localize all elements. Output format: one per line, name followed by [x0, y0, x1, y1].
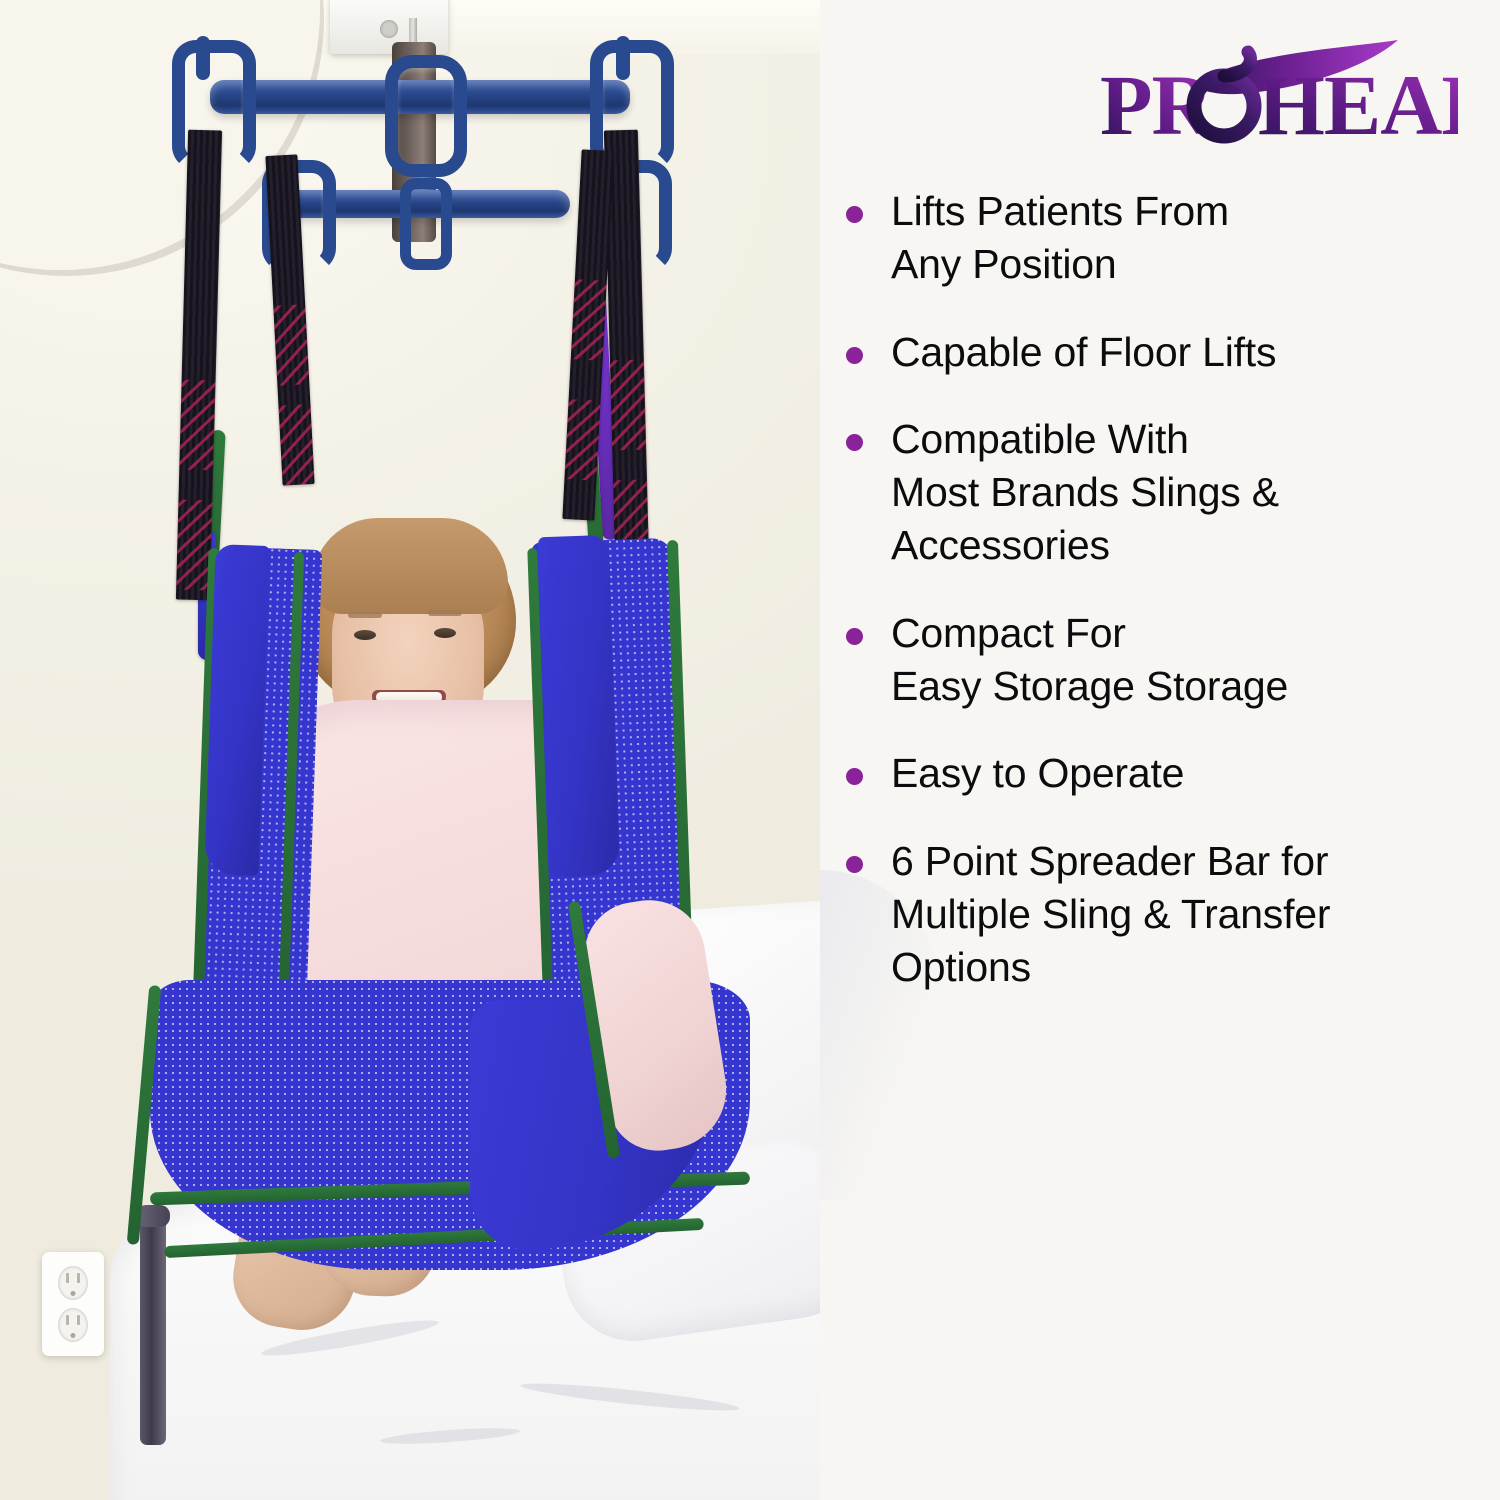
feature-list: Lifts Patients From Any Position Capable…	[828, 185, 1468, 1029]
bullet-dot-icon	[846, 347, 863, 364]
strap-stitching	[179, 380, 215, 471]
product-feature-graphic: PR HEAL Lifts Patients From Any Position…	[0, 0, 1500, 1500]
patient-eye	[434, 628, 456, 638]
feature-item-label: Compatible With Most Brands Slings & Acc…	[891, 413, 1279, 573]
hook-tip	[616, 36, 630, 80]
outlet-socket	[58, 1308, 88, 1342]
sling-solid-left	[204, 544, 269, 876]
outlet-socket	[58, 1266, 88, 1300]
hanger-hole	[380, 20, 398, 38]
svg-text:HEAL: HEAL	[1258, 57, 1458, 146]
spreader-bar-center-ring	[385, 55, 467, 177]
bullet-dot-icon	[846, 768, 863, 785]
strap-stitching	[564, 399, 600, 481]
feature-item-label: Easy to Operate	[891, 747, 1184, 800]
strap-stitching	[273, 304, 309, 386]
feature-item-label: Compact For Easy Storage Storage	[891, 607, 1288, 714]
feature-item-lifts-any-position: Lifts Patients From Any Position	[828, 185, 1468, 292]
hook-tip	[196, 36, 210, 80]
feature-item-label: 6 Point Spreader Bar for Multiple Sling …	[891, 835, 1330, 995]
proheal-logo: PR HEAL	[1098, 38, 1458, 146]
feature-item-floor-lifts: Capable of Floor Lifts	[828, 326, 1468, 379]
sling-solid-right	[538, 535, 620, 877]
strap-stitching	[278, 404, 314, 486]
strap-stitching	[571, 279, 607, 361]
bed-side-rail	[140, 1215, 166, 1445]
feature-item-compatible-brands: Compatible With Most Brands Slings & Acc…	[828, 413, 1468, 573]
strap-stitching	[610, 360, 646, 451]
feature-item-compact-storage: Compact For Easy Storage Storage	[828, 607, 1468, 714]
feature-item-label: Capable of Floor Lifts	[891, 326, 1276, 379]
bullet-dot-icon	[846, 628, 863, 645]
feature-panel: PR HEAL Lifts Patients From Any Position…	[820, 0, 1500, 1500]
patient-eyebrow	[348, 612, 382, 618]
feature-item-label: Lifts Patients From Any Position	[891, 185, 1229, 292]
patient-hair-bangs	[312, 518, 508, 614]
bullet-dot-icon	[846, 206, 863, 223]
patient-eyebrow	[428, 610, 462, 616]
spreader-bar-lower-ring	[400, 178, 452, 270]
bullet-dot-icon	[846, 856, 863, 873]
feature-item-six-point-bar: 6 Point Spreader Bar for Multiple Sling …	[828, 835, 1468, 995]
bullet-dot-icon	[846, 434, 863, 451]
wall-outlet-icon	[42, 1252, 104, 1356]
patient-eye	[354, 630, 376, 640]
product-photo	[0, 0, 820, 1500]
feature-item-easy-operate: Easy to Operate	[828, 747, 1468, 800]
